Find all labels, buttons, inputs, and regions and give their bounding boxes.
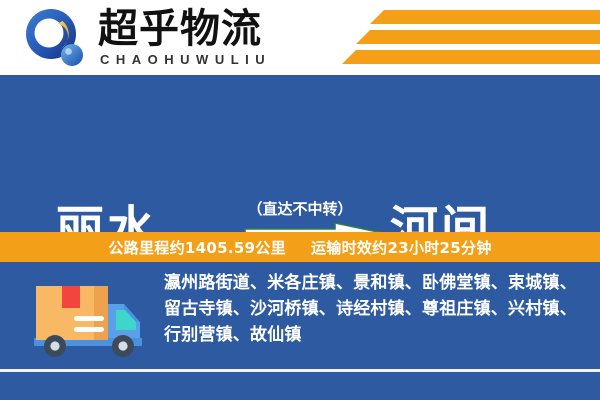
route-band: 丽水 （直达不中转） 【往返运输】 河间 bbox=[0, 75, 600, 230]
route-info-bar: 公路里程约1405.59公里 运输时效约23小时25分钟 bbox=[0, 232, 600, 262]
brand-name-en: CHAOHUWULIU bbox=[100, 52, 271, 67]
footer-band bbox=[0, 372, 600, 400]
route-info-text: 公路里程约1405.59公里 运输时效约23小时25分钟 bbox=[108, 237, 491, 258]
town-line: 行别营镇、故仙镇 bbox=[164, 322, 584, 348]
logo-circle-q-icon bbox=[24, 8, 86, 70]
town-line: 留古寺镇、沙河桥镇、诗经村镇、尊祖庄镇、兴村镇、 bbox=[164, 296, 584, 322]
orange-stripes-decoration bbox=[340, 10, 600, 68]
logistics-route-card: 超乎物流 CHAOHUWULIU 丽水 （直达不中转） 【往返运输】 河间 bbox=[0, 0, 600, 400]
town-line: 瀛州路街道、米各庄镇、景和镇、卧佛堂镇、束城镇、 bbox=[164, 270, 584, 296]
coverage-town-list: 瀛州路街道、米各庄镇、景和镇、卧佛堂镇、束城镇、 留古寺镇、沙河桥镇、诗经村镇、… bbox=[164, 270, 584, 348]
page-header: 超乎物流 CHAOHUWULIU bbox=[0, 0, 600, 75]
duration-value: 运输时效约23小时25分钟 bbox=[311, 239, 492, 257]
distance-value: 公路里程约1405.59公里 bbox=[108, 239, 286, 257]
coverage-area-section: 瀛州路街道、米各庄镇、景和镇、卧佛堂镇、束城镇、 留古寺镇、沙河桥镇、诗经村镇、… bbox=[0, 262, 600, 370]
route-note-direct: （直达不中转） bbox=[200, 198, 400, 219]
delivery-truck-icon bbox=[28, 276, 150, 362]
brand-name-cn: 超乎物流 bbox=[98, 7, 262, 51]
